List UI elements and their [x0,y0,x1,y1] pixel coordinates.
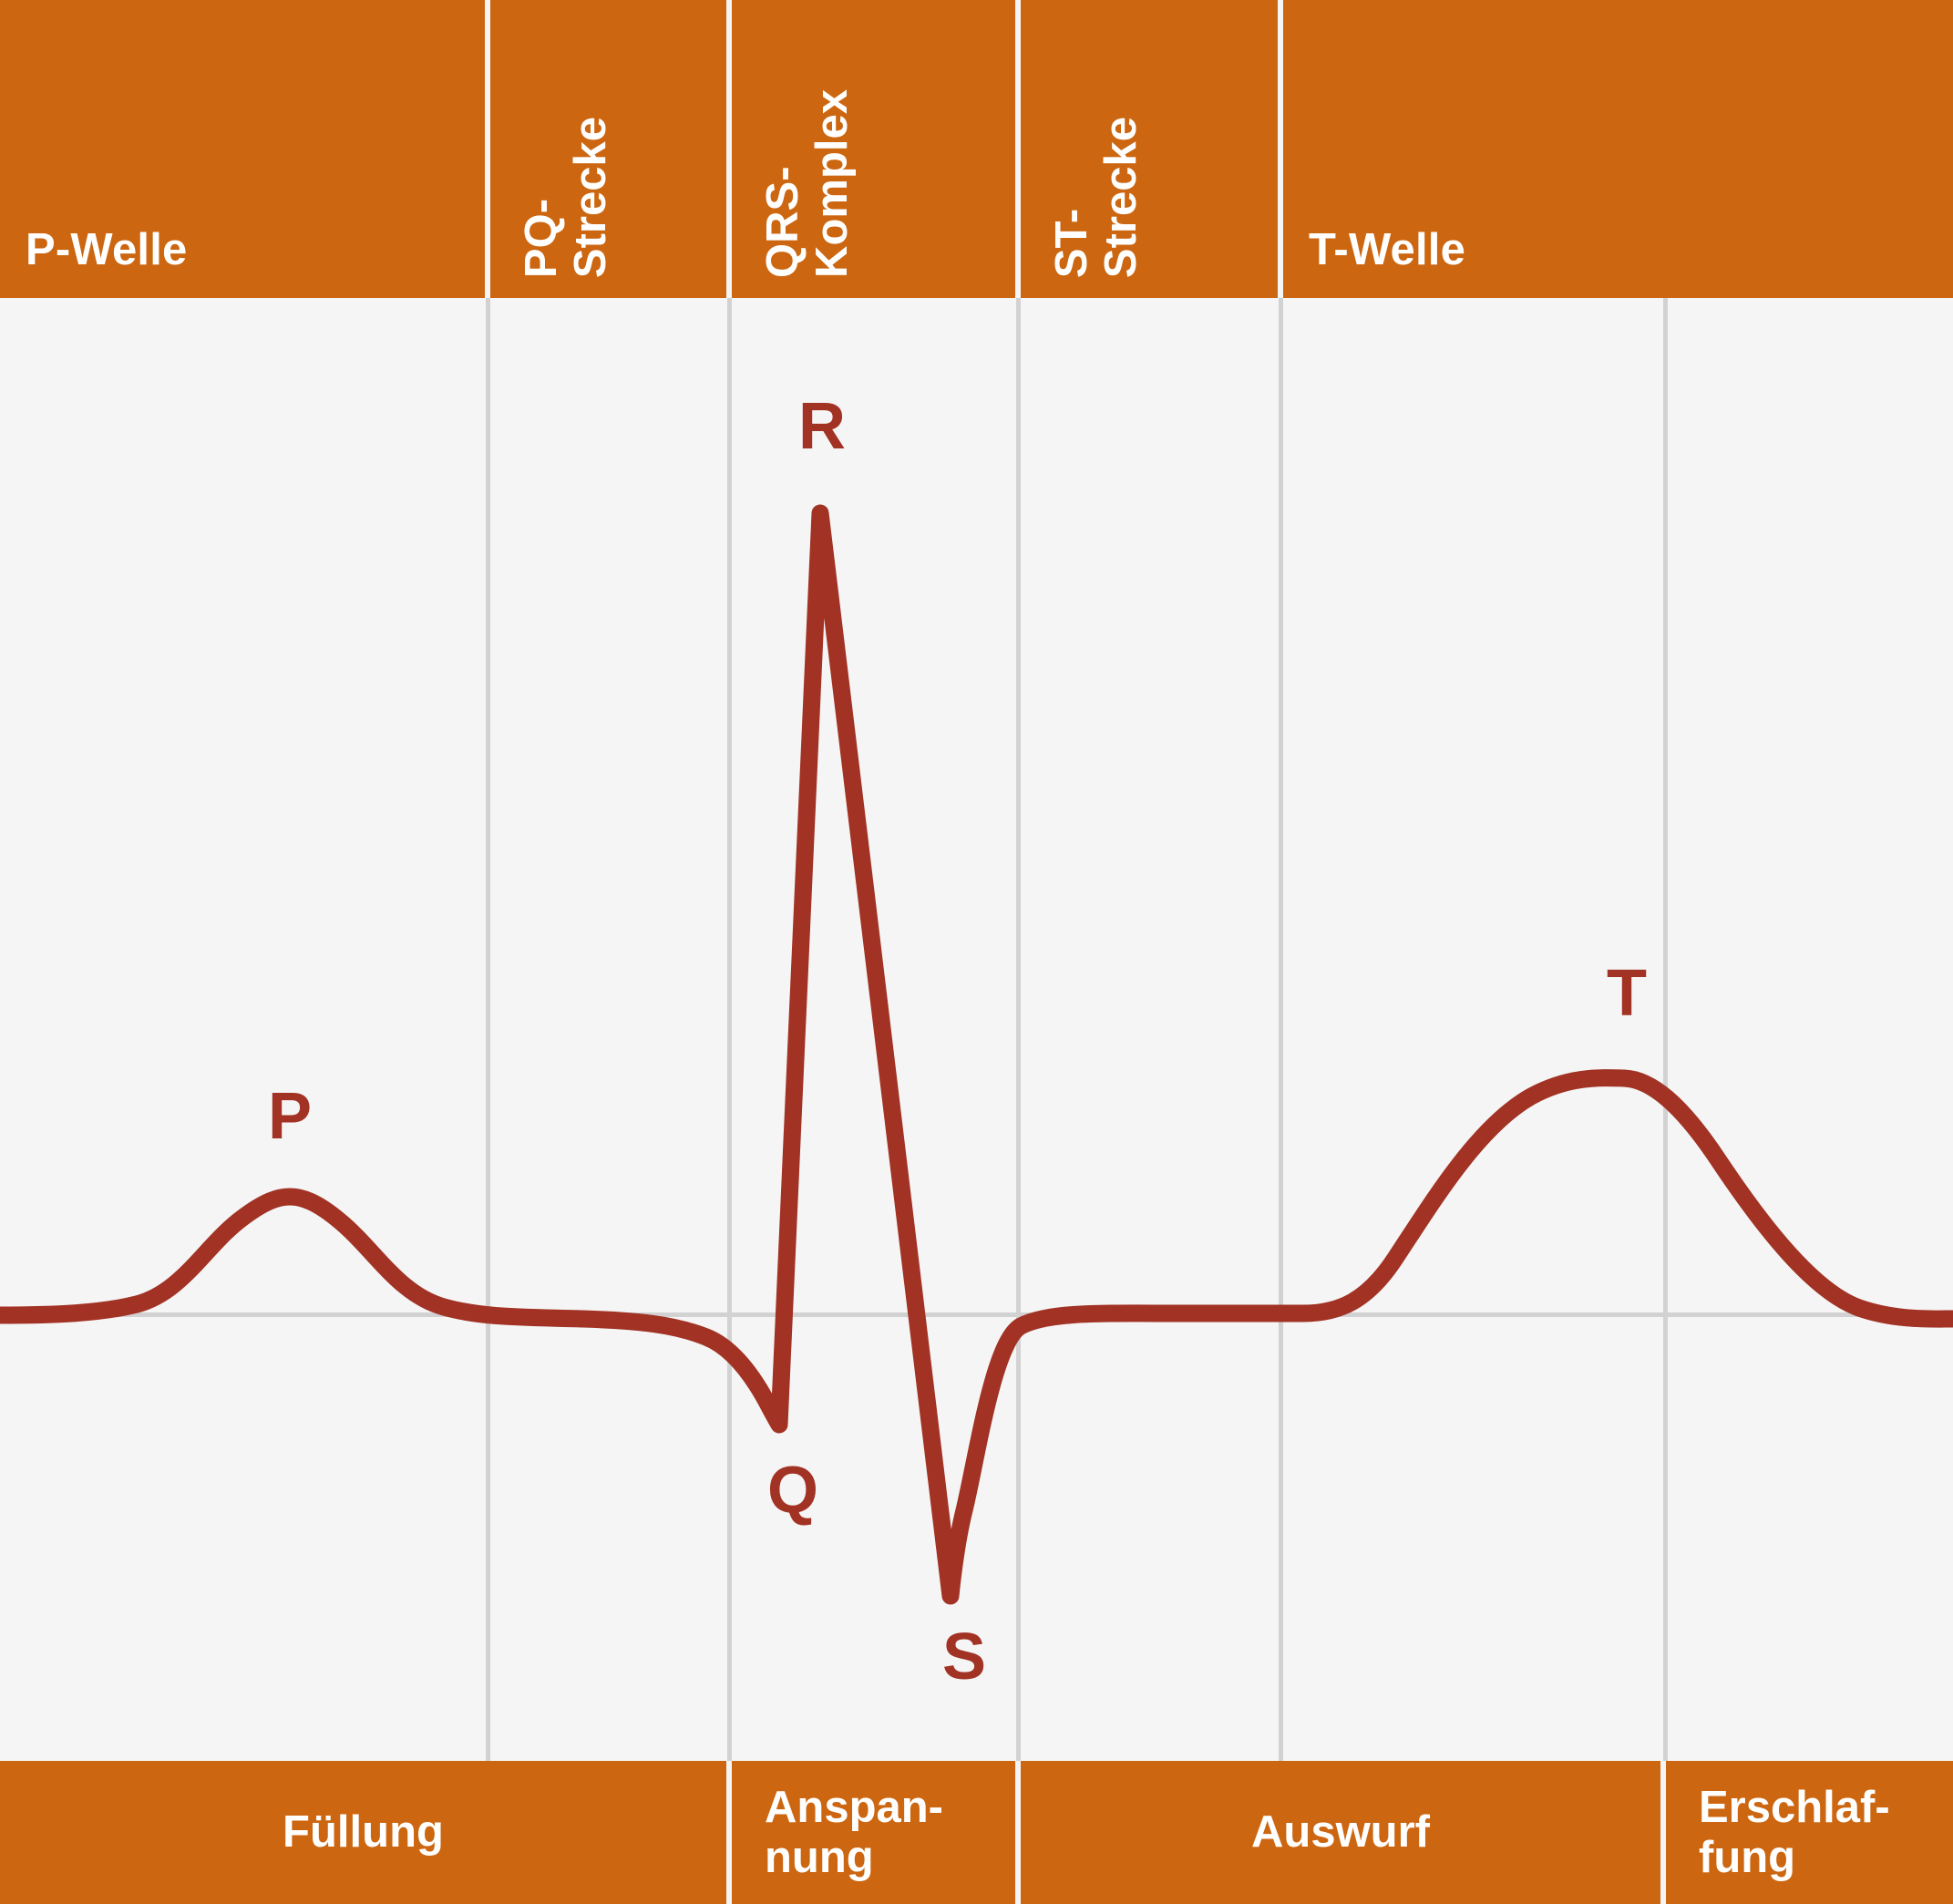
header-label-p-welle: P-Welle [26,227,188,274]
header-cell-st-strecke: ST- Strecke [1021,0,1278,298]
header-cell-p-welle: P-Welle [0,0,485,298]
header-label-st-strecke: ST- Strecke [1048,117,1146,278]
header-label-st-strecke-wrap: ST- Strecke [1021,5,1278,278]
ecg-segment-header-band: P-Welle PQ- Strecke QRS- Komplex ST- Str… [0,0,1953,298]
wave-label-q: Q [767,1457,818,1523]
ecg-cardiac-cycle-diagram: P-Welle PQ- Strecke QRS- Komplex ST- Str… [0,0,1953,1904]
ecg-plot-area: P Q R S T [0,298,1953,1761]
footer-cell-auswurf: Auswurf [1021,1761,1660,1904]
header-cell-pq-strecke: PQ- Strecke [490,0,726,298]
cardiac-phase-footer-band: Füllung Anspan- nung Auswurf Erschlaf- f… [0,1761,1953,1904]
wave-label-r: R [798,394,846,459]
header-cell-qrs-komplex: QRS- Komplex [732,0,1015,298]
header-cell-t-welle: T-Welle [1283,0,1953,298]
header-label-t-welle: T-Welle [1309,227,1465,274]
header-label-qrs-komplex-wrap: QRS- Komplex [732,5,1015,278]
header-label-pq-strecke-wrap: PQ- Strecke [490,5,726,278]
header-label-qrs-komplex: QRS- Komplex [759,89,858,278]
wave-label-t: T [1607,961,1647,1026]
ecg-waveform [0,298,1953,1761]
wave-label-s: S [942,1624,986,1690]
wave-label-p: P [268,1084,312,1149]
footer-cell-erschlaffung: Erschlaf- fung [1666,1761,1953,1904]
footer-cell-fuellung: Füllung [0,1761,726,1904]
header-label-pq-strecke: PQ- Strecke [518,117,616,278]
footer-cell-anspannung: Anspan- nung [732,1761,1015,1904]
